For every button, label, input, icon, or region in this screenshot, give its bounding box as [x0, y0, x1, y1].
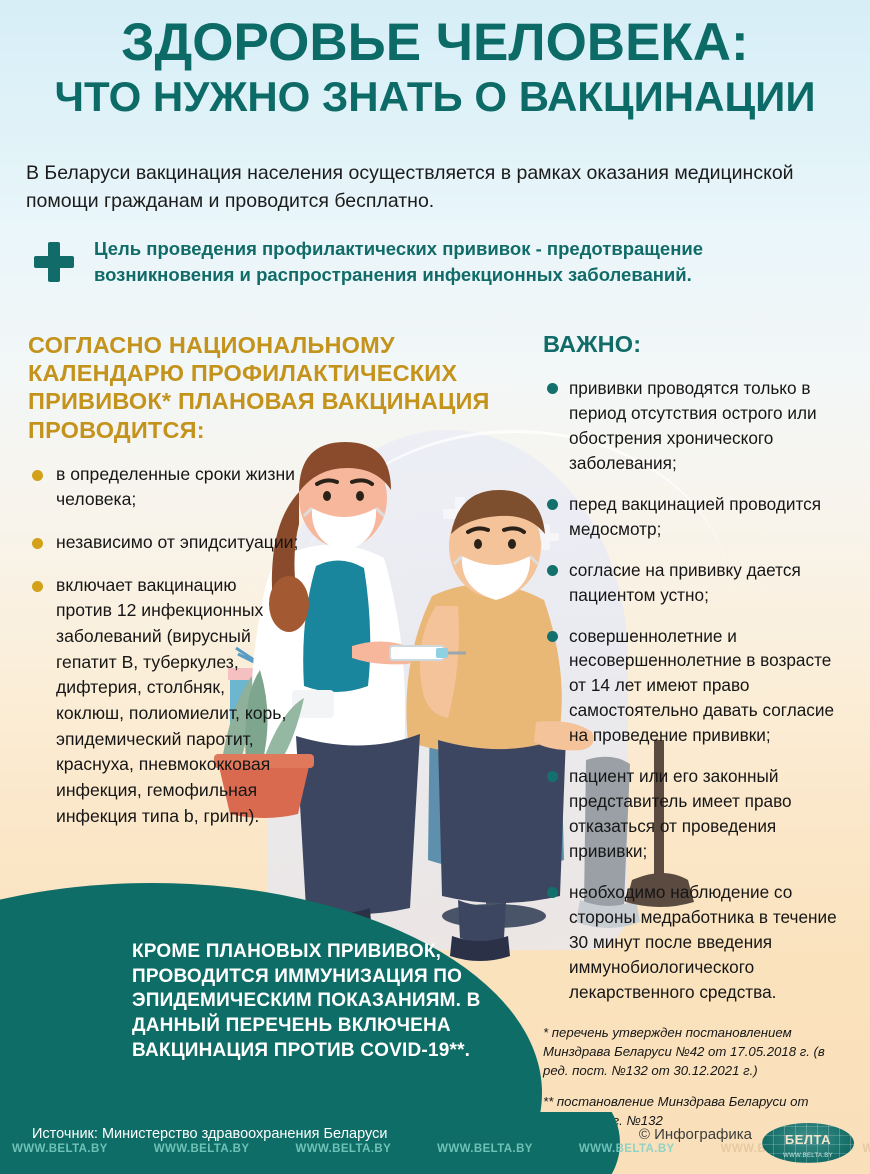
- important-bullet-list: прививки проводятся только в период отсу…: [543, 376, 849, 1005]
- footnote-1: * перечень утвержден постановлением Минз…: [543, 1023, 849, 1080]
- list-item: перед вакцинацией проводится медосмотр;: [543, 492, 849, 542]
- list-item: прививки проводятся только в период отсу…: [543, 376, 849, 476]
- goal-text: Цель проведения профилактических прививо…: [94, 236, 844, 289]
- list-item: в определенные сроки жизни человека;: [28, 462, 328, 513]
- list-item: включает вакцинацию против 12 инфекционн…: [28, 573, 296, 830]
- belta-logo-url: WWW.BELTA.BY: [762, 1153, 854, 1159]
- list-item: пациент или его законный представитель и…: [543, 764, 849, 864]
- left-column-heading: СОГЛАСНО НАЦИОНАЛЬНОМУ КАЛЕНДАРЮ ПРОФИЛА…: [28, 331, 498, 444]
- left-column: СОГЛАСНО НАЦИОНАЛЬНОМУ КАЛЕНДАРЮ ПРОФИЛА…: [28, 331, 498, 846]
- exclamation-mark-icon: [82, 940, 110, 943]
- goal-statement: Цель проведения профилактических прививо…: [34, 236, 844, 289]
- list-item: согласие на прививку дается пациентом ус…: [543, 558, 849, 608]
- watermark-text: WWW.BELTA.BY: [579, 1143, 675, 1155]
- belta-logo: БЕЛТА WWW.BELTA.BY: [762, 1123, 854, 1163]
- headline-line-2: ЧТО НУЖНО ЗНАТЬ О ВАКЦИНАЦИИ: [0, 77, 870, 117]
- infographic-poster: ЗДОРОВЬЕ ЧЕЛОВЕКА: ЧТО НУЖНО ЗНАТЬ О ВАК…: [0, 0, 870, 1174]
- list-item: независимо от эпидситуации;: [28, 530, 328, 556]
- medical-cross-icon: [34, 242, 74, 282]
- list-item: необходимо наблюдение со стороны медрабо…: [543, 880, 849, 1005]
- watermark-text: WWW.BELTA.BY: [862, 1143, 870, 1155]
- copyright-line: © Инфографика: [639, 1126, 752, 1143]
- headline-line-1: ЗДОРОВЬЕ ЧЕЛОВЕКА:: [0, 18, 870, 69]
- watermark-text: WWW.BELTA.BY: [12, 1143, 108, 1155]
- footer-bar: WWW.BELTA.BY WWW.BELTA.BY WWW.BELTA.BY W…: [0, 1112, 870, 1174]
- right-column: ВАЖНО: прививки проводятся только в пери…: [543, 331, 849, 1130]
- watermark-text: WWW.BELTA.BY: [295, 1143, 391, 1155]
- belta-logo-name: БЕЛТА: [762, 1132, 854, 1147]
- watermark-text: WWW.BELTA.BY: [437, 1143, 533, 1155]
- intro-paragraph: В Беларуси вакцинация населения осуществ…: [26, 160, 844, 215]
- right-column-heading: ВАЖНО:: [543, 331, 849, 358]
- callout-text: КРОМЕ ПЛАНОВЫХ ПРИВИВОК, ПРОВОДИТСЯ ИММУ…: [132, 940, 502, 1063]
- watermark-text: WWW.BELTA.BY: [154, 1143, 250, 1155]
- callout-box: КРОМЕ ПЛАНОВЫХ ПРИВИВОК, ПРОВОДИТСЯ ИММУ…: [82, 940, 502, 1063]
- schedule-bullet-list: в определенные сроки жизни человека; нез…: [28, 462, 498, 830]
- list-item: совершеннолетние и несовершеннолетние в …: [543, 624, 849, 749]
- source-line: Источник: Министерство здравоохранения Б…: [32, 1126, 387, 1142]
- poster-headline: ЗДОРОВЬЕ ЧЕЛОВЕКА: ЧТО НУЖНО ЗНАТЬ О ВАК…: [0, 18, 870, 117]
